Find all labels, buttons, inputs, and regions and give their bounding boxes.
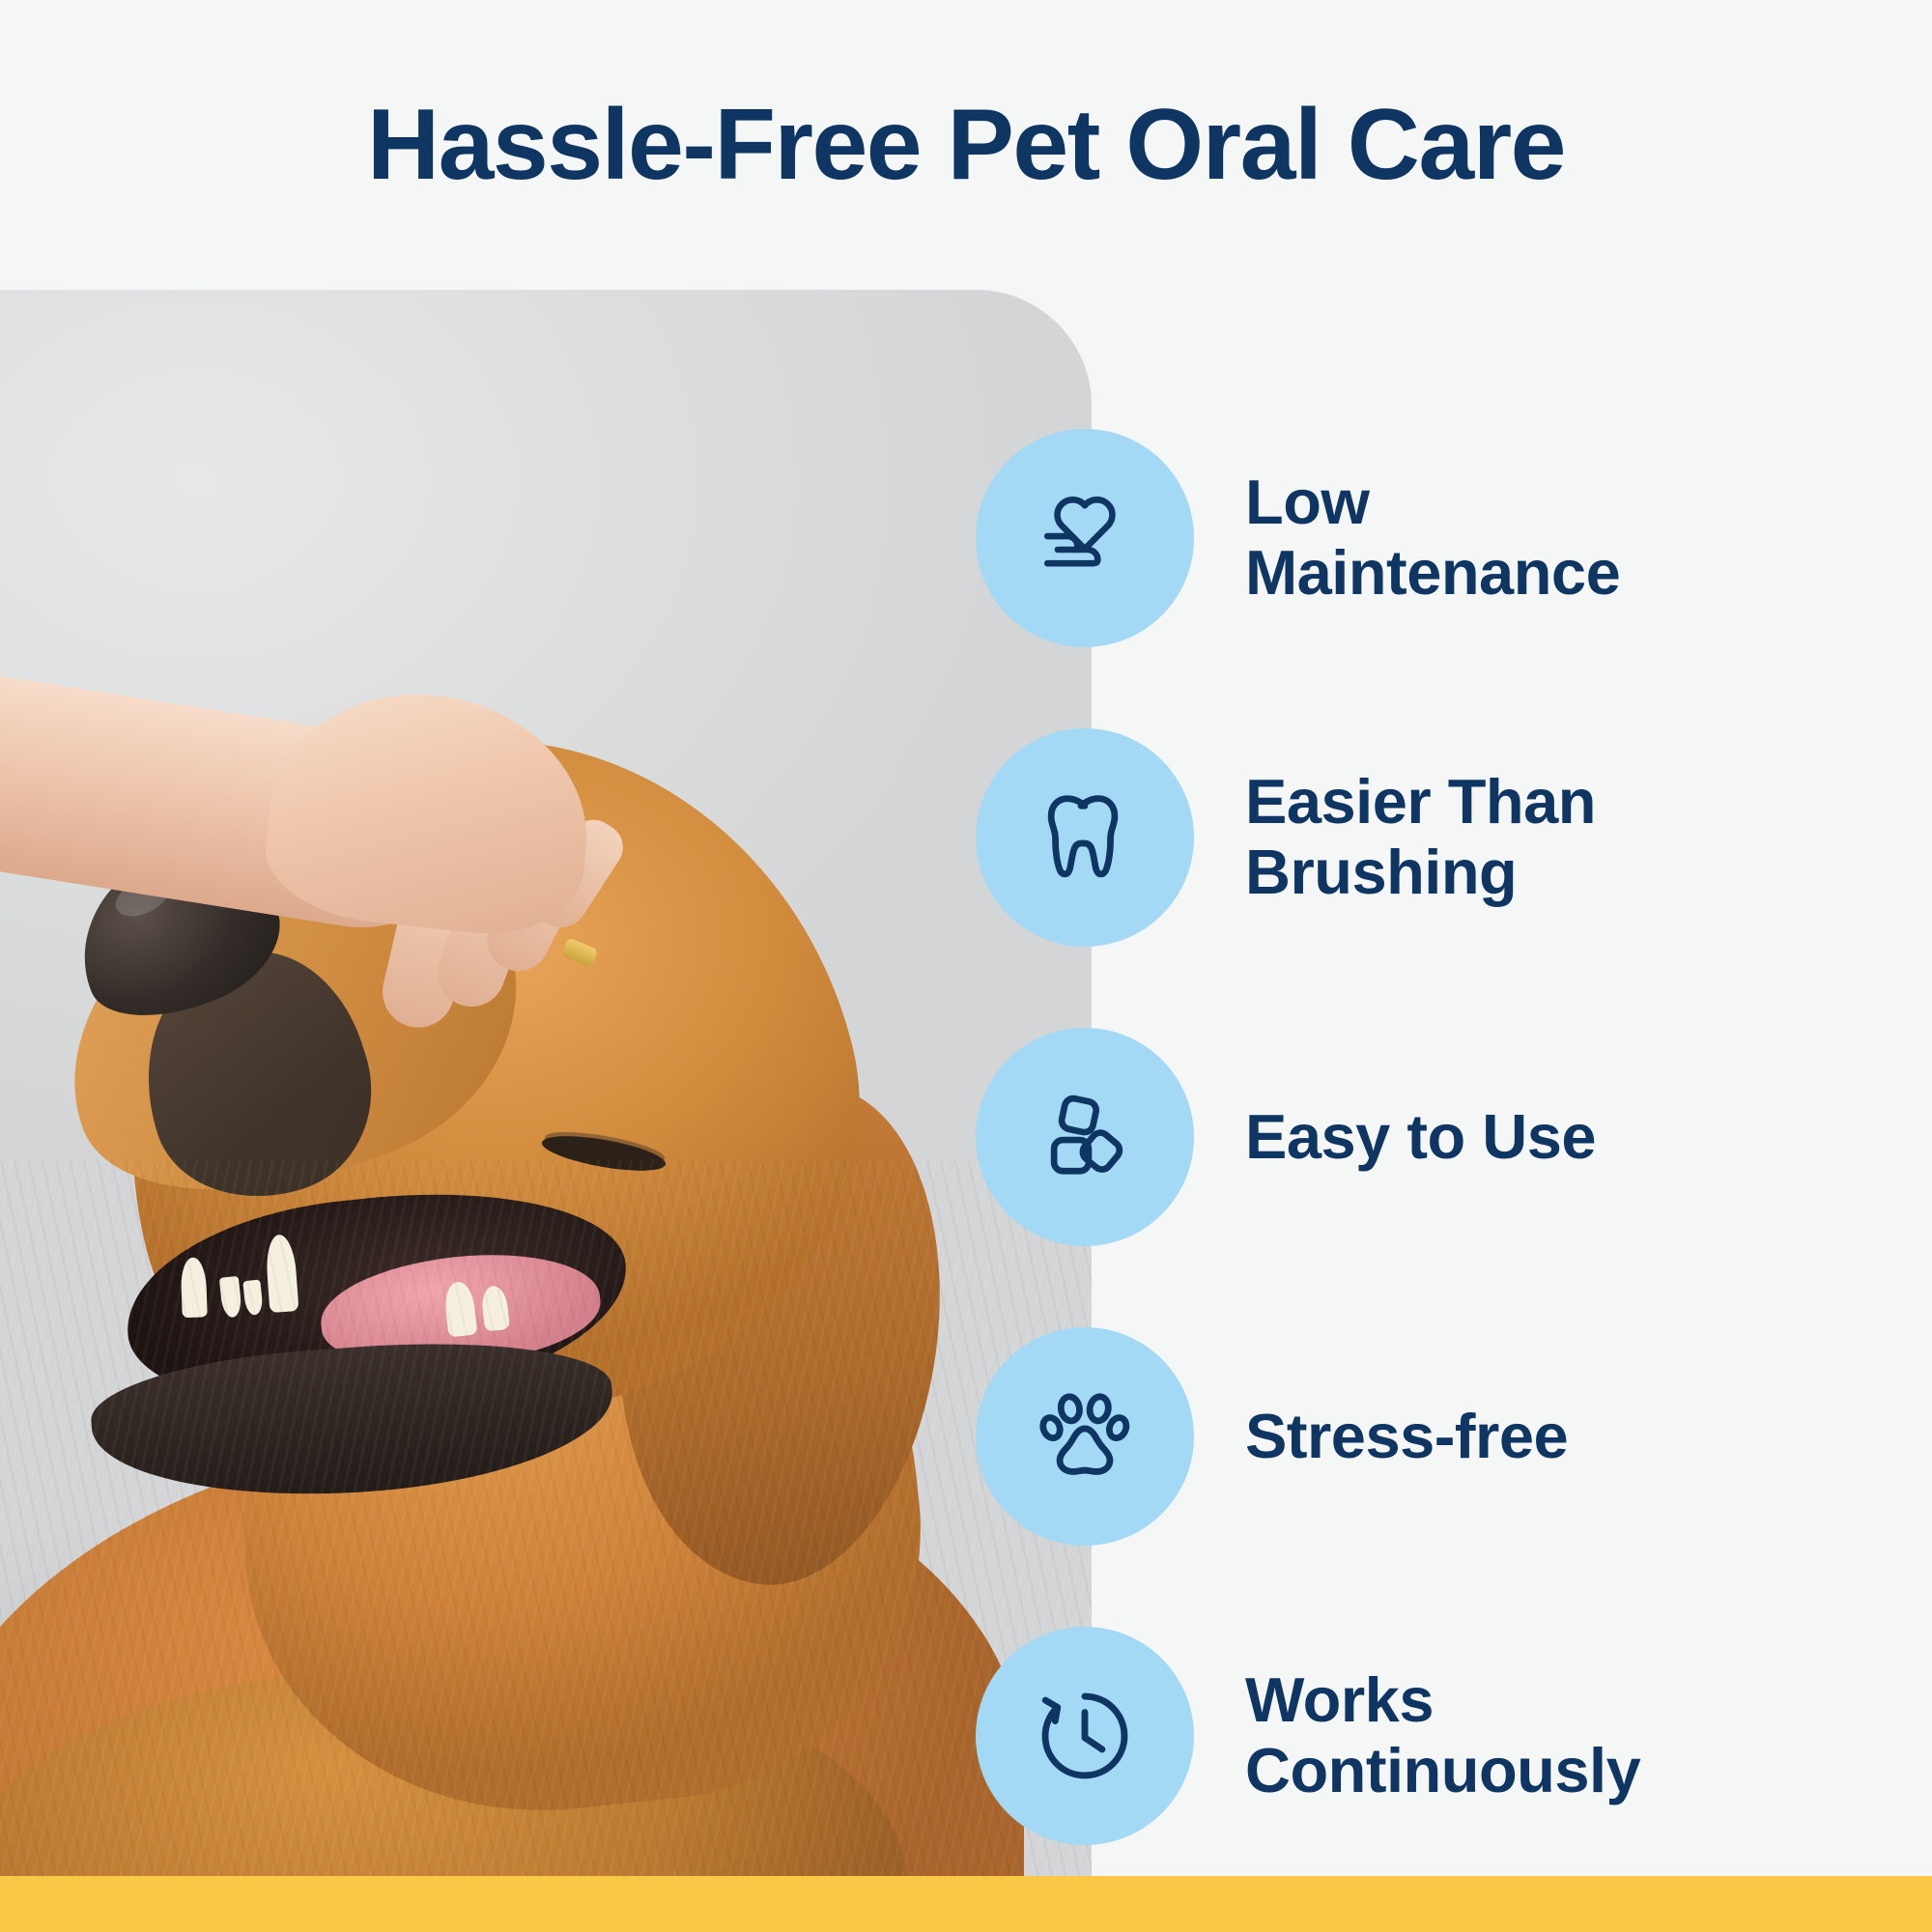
tooth-icon [1027,780,1143,895]
dog-tooth [242,1280,264,1317]
feature-icon-badge [976,1028,1194,1246]
feature-item-stress-free: Stress-free [976,1287,1874,1586]
title-bar: Hassle-Free Pet Oral Care [0,0,1932,290]
feature-item-low-maintenance: Low Maintenance [976,388,1874,688]
dog-tooth [219,1276,242,1319]
feature-icon-badge [976,1627,1194,1845]
feature-label-line-1: Works [1245,1665,1640,1736]
three-chews-icon [1026,1078,1144,1196]
dog-tooth [265,1234,299,1313]
feature-item-easier-than-brushing: Easier Than Brushing [976,688,1874,987]
feature-label-line-2: Maintenance [1245,538,1620,609]
feature-label-line-2: Brushing [1245,838,1596,908]
feature-list: Low Maintenance Easier Than Brushing [976,388,1874,1886]
heart-with-waves-icon [1025,478,1145,598]
feature-label: Stress-free [1245,1402,1568,1472]
feature-label-line-1: Stress-free [1245,1402,1568,1472]
feature-item-easy-to-use: Easy to Use [976,987,1874,1287]
feature-label-line-1: Easier Than [1245,767,1596,838]
clock-refresh-icon [1026,1677,1144,1795]
feature-label-line-1: Easy to Use [1245,1102,1596,1173]
page-title: Hassle-Free Pet Oral Care [367,95,1565,195]
dog-tooth [181,1257,208,1318]
feature-item-works-continuously: Works Continuously [976,1586,1874,1886]
feature-label: Works Continuously [1245,1665,1640,1806]
feature-label: Easy to Use [1245,1102,1596,1173]
feature-label: Easier Than Brushing [1245,767,1596,908]
paw-print-icon [1025,1377,1145,1496]
feature-icon-badge [976,1327,1194,1546]
product-photo [0,290,1092,1876]
feature-label: Low Maintenance [1245,468,1620,609]
feature-label-line-1: Low [1245,468,1620,538]
bottom-accent-bar [0,1876,1932,1932]
feature-icon-badge [976,728,1194,947]
feature-icon-badge [976,429,1194,647]
feature-label-line-2: Continuously [1245,1736,1640,1806]
